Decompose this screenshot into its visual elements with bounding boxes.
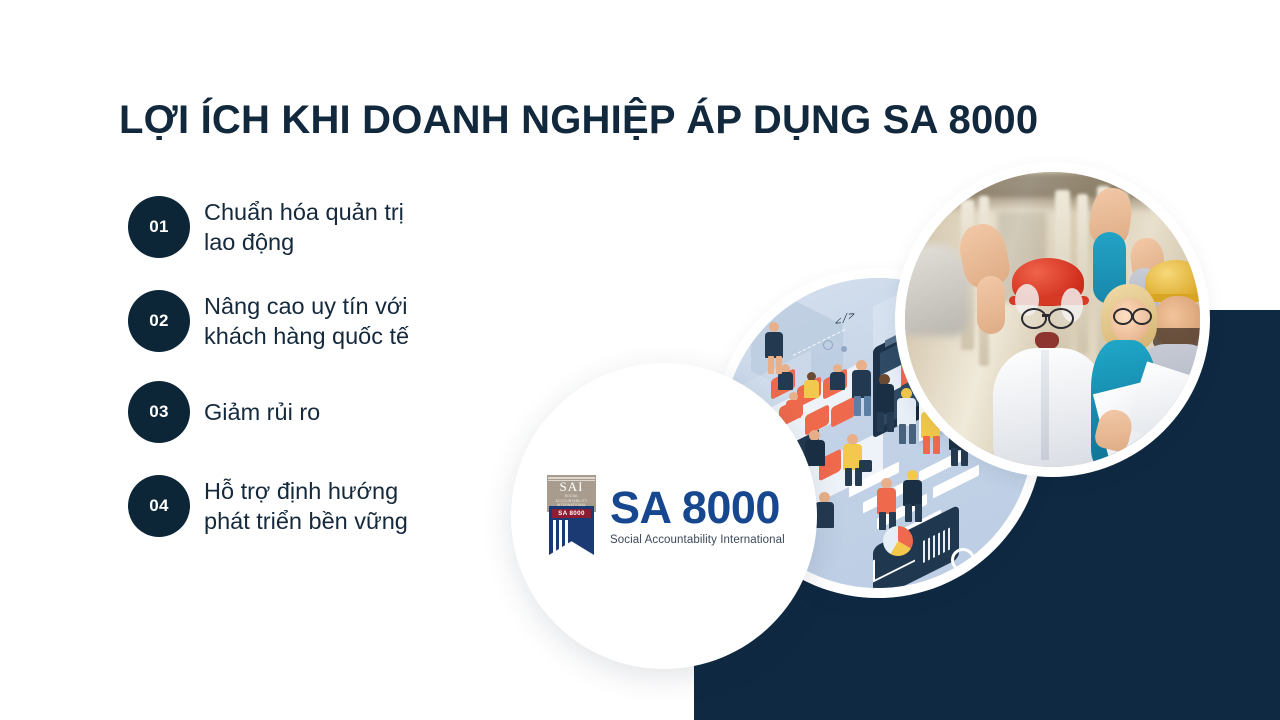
person-body	[875, 384, 894, 414]
logo-circle-sa8000: SAI SOCIAL ACCOUNTABILITY INTERNATIONAL …	[511, 363, 817, 669]
white-shirt	[993, 348, 1105, 467]
logo-text: SA 8000 Social Accountability Internatio…	[610, 485, 785, 546]
person-body	[830, 372, 845, 390]
briefcase	[859, 460, 872, 472]
person-leg	[887, 412, 894, 432]
badge-number: 02	[128, 290, 190, 352]
logo-name: SA 8000	[610, 485, 785, 531]
benefit-text: Giảm rủi ro	[204, 397, 320, 427]
eyeglass-left	[1021, 308, 1047, 329]
person-leg	[768, 356, 774, 374]
badge-number: 01	[128, 196, 190, 258]
sai-banner-stripe	[553, 520, 556, 554]
gear-icon	[971, 560, 990, 579]
badge-number: 04	[128, 475, 190, 537]
photo-scene	[905, 172, 1200, 467]
photo-circle-workers	[905, 172, 1200, 467]
badge-number: 03	[128, 381, 190, 443]
person-leg	[877, 412, 884, 432]
person-body	[815, 502, 834, 528]
sai-emblem-banner-label: SA 8000	[552, 509, 591, 518]
person-leg	[776, 356, 782, 374]
person-body	[903, 480, 922, 506]
person-leg	[915, 504, 922, 522]
person-body	[778, 372, 793, 390]
eyeglass-right	[1048, 308, 1074, 329]
logo-tagline: Social Accountability International	[610, 534, 785, 546]
person-leg	[905, 504, 912, 522]
person-body	[765, 332, 783, 358]
list-item: 03 Giảm rủi ro	[128, 381, 320, 443]
person-leg	[854, 396, 861, 416]
person-body	[804, 380, 819, 398]
benefit-text: Nâng cao uy tín với khách hàng quốc tế	[204, 291, 409, 351]
deco-circle	[823, 340, 833, 350]
person-body	[852, 370, 871, 398]
deco-dot	[841, 346, 847, 352]
slide-canvas: </>	[0, 0, 1280, 720]
sai-emblem-title: SAI	[547, 479, 596, 495]
sai-emblem-icon: SAI SOCIAL ACCOUNTABILITY INTERNATIONAL …	[547, 475, 596, 555]
sa8000-logo: SAI SOCIAL ACCOUNTABILITY INTERNATIONAL …	[547, 475, 785, 555]
list-item: 02 Nâng cao uy tín với khách hàng quốc t…	[128, 290, 409, 352]
person-body	[786, 400, 801, 418]
list-item: 01 Chuẩn hóa quản trị lao động	[128, 196, 404, 258]
page-title: LỢI ÍCH KHI DOANH NGHIỆP ÁP DỤNG SA 8000	[119, 98, 1038, 143]
list-item: 04 Hỗ trợ định hướng phát triển bền vững	[128, 475, 408, 537]
eyeglass-left	[1113, 308, 1133, 325]
eyeglass-bridge	[1042, 314, 1049, 317]
person-body	[805, 440, 825, 466]
person-leg	[845, 468, 852, 486]
person-body	[877, 488, 896, 514]
background-person	[905, 244, 969, 336]
sai-emblem-subtitle: SOCIAL ACCOUNTABILITY INTERNATIONAL	[547, 494, 596, 508]
person-leg	[879, 512, 886, 530]
benefit-text: Hỗ trợ định hướng phát triển bền vững	[204, 476, 408, 536]
sai-banner-stripe	[559, 520, 562, 554]
forearm	[977, 276, 1005, 334]
sai-banner-stripe	[565, 520, 568, 547]
benefit-text: Chuẩn hóa quản trị lao động	[204, 197, 404, 257]
person-leg	[864, 396, 871, 416]
eyeglass-right	[1132, 308, 1152, 325]
person-head	[769, 322, 779, 332]
shirt-placket	[1041, 350, 1049, 460]
